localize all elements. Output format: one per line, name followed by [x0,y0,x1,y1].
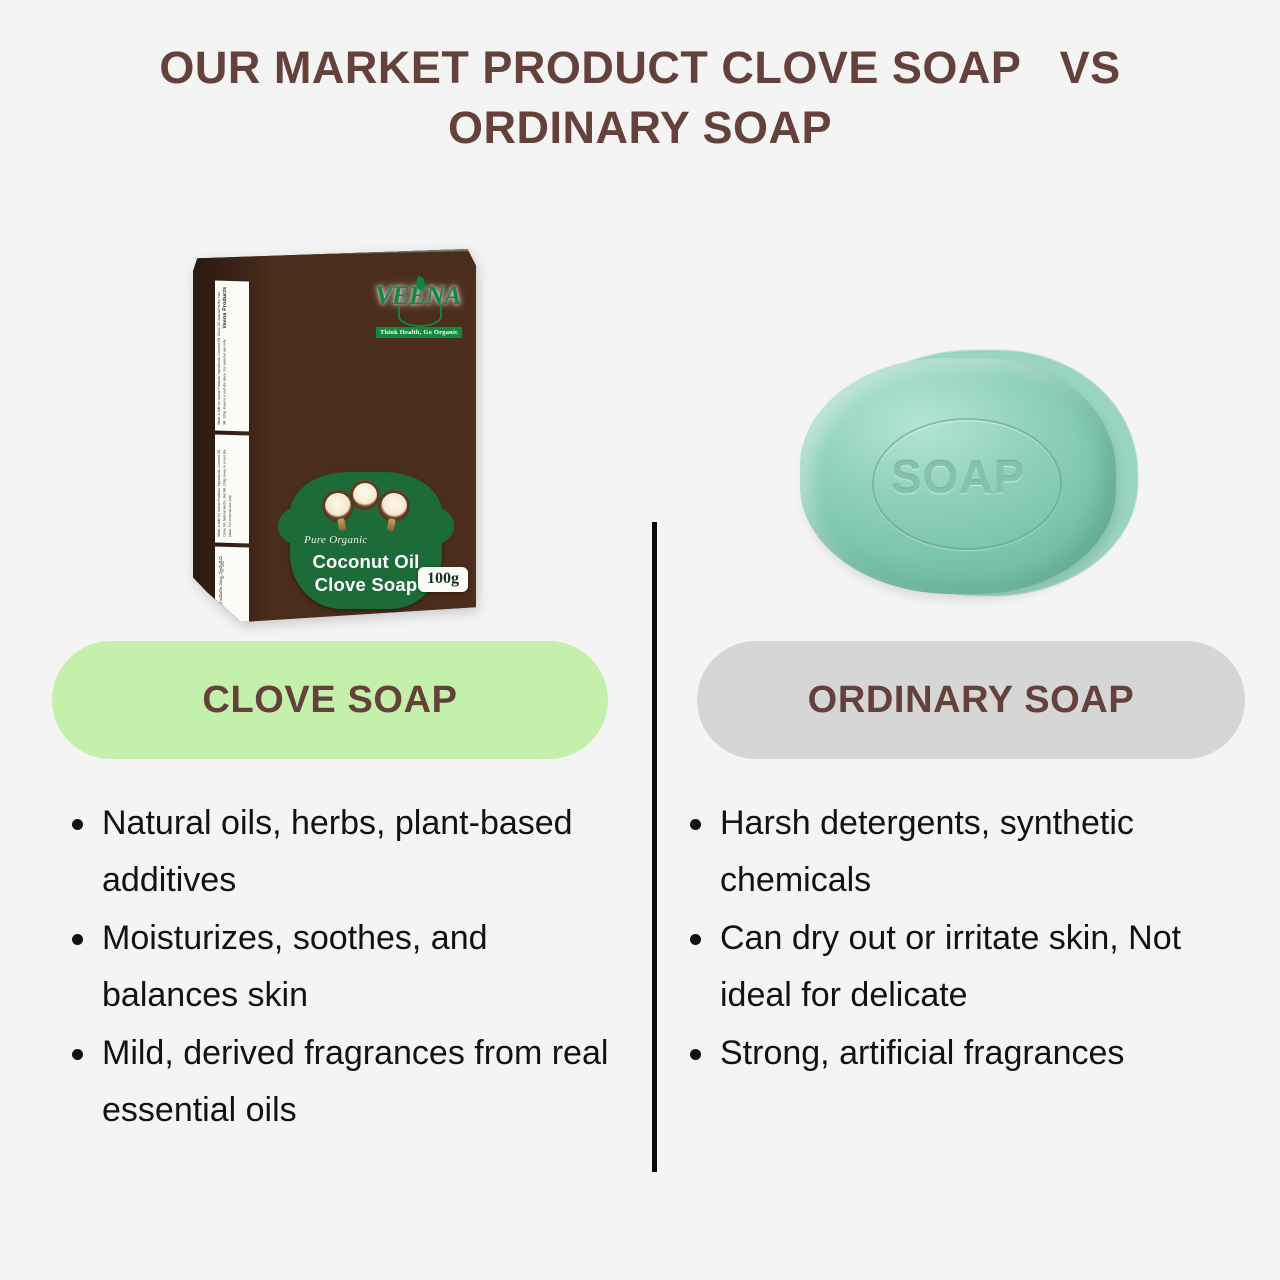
list-item: Moisturizes, soothes, and balances skin [98,910,622,1024]
side-panel-regional-text: వీణా ప్రొడక్ట్స్ కొబ్బరి నూనె లవంగం సబ్బ… [217,553,245,622]
list-item: Mild, derived fragrances from real essen… [98,1025,622,1139]
package-side-panel-bottom: వీణా ప్రొడక్ట్స్ కొబ్బరి నూనె లవంగం సబ్బ… [215,547,249,622]
clove-soap-bullet-list: Natural oils, herbs, plant-based additiv… [62,795,622,1139]
package-side-panel-top: Veena Products Mktd. & Mfd. by Veena Pro… [215,281,249,432]
clove-soap-benefits-list: Natural oils, herbs, plant-based additiv… [62,795,622,1140]
list-item: Strong, artificial fragrances [716,1025,1260,1082]
swirl-icon [398,305,442,327]
comparison-stage: Veena Products Mktd. & Mfd. by Veena Pro… [0,0,1280,1280]
coconut-illustration [320,480,412,532]
weight-badge: 100g [418,567,468,592]
list-item: Natural oils, herbs, plant-based additiv… [98,795,622,909]
ordinary-soap-header-pill: ORDINARY SOAP [697,641,1245,759]
ordinary-soap-drawbacks-list: Harsh detergents, synthetic chemicals Ca… [680,795,1260,1083]
package-body: Veena Products Mktd. & Mfd. by Veena Pro… [193,249,476,622]
ordinary-soap-bullet-list: Harsh detergents, synthetic chemicals Ca… [680,795,1260,1082]
label-eyebrow: Pure Organic [304,534,368,546]
side-panel-text-secondary: Mktd. & Mfd. by Veena Products. Ingredie… [217,441,245,538]
clove-soap-package-image: Veena Products Mktd. & Mfd. by Veena Pro… [193,249,476,622]
soap-bar-front: SOAP [800,358,1116,594]
side-panel-text: Mktd. & Mfd. by Veena Products. Ingredie… [217,287,245,426]
ordinary-soap-header-label: ORDINARY SOAP [808,679,1135,722]
clove-soap-header-label: CLOVE SOAP [202,679,457,722]
clove-soap-header-pill: CLOVE SOAP [52,641,608,759]
list-item: Harsh detergents, synthetic chemicals [716,795,1260,909]
ordinary-soap-bar-image: SOAP [800,344,1142,612]
coconut-stem [337,518,346,531]
list-item: Can dry out or irritate skin, Not ideal … [716,910,1260,1024]
column-divider [652,522,657,1172]
coconut-stem [386,518,395,531]
soap-emboss-text: SOAP [800,450,1116,504]
veena-tagline: Think Health, Go Organic [376,327,462,338]
coconut-icon-right [375,487,412,524]
veena-brand-logo: VEENA Think Health, Go Organic [370,281,466,345]
coconut-icon-center [350,480,380,510]
package-side-panel-middle: Mktd. & Mfd. by Veena Products. Ingredie… [215,435,249,544]
